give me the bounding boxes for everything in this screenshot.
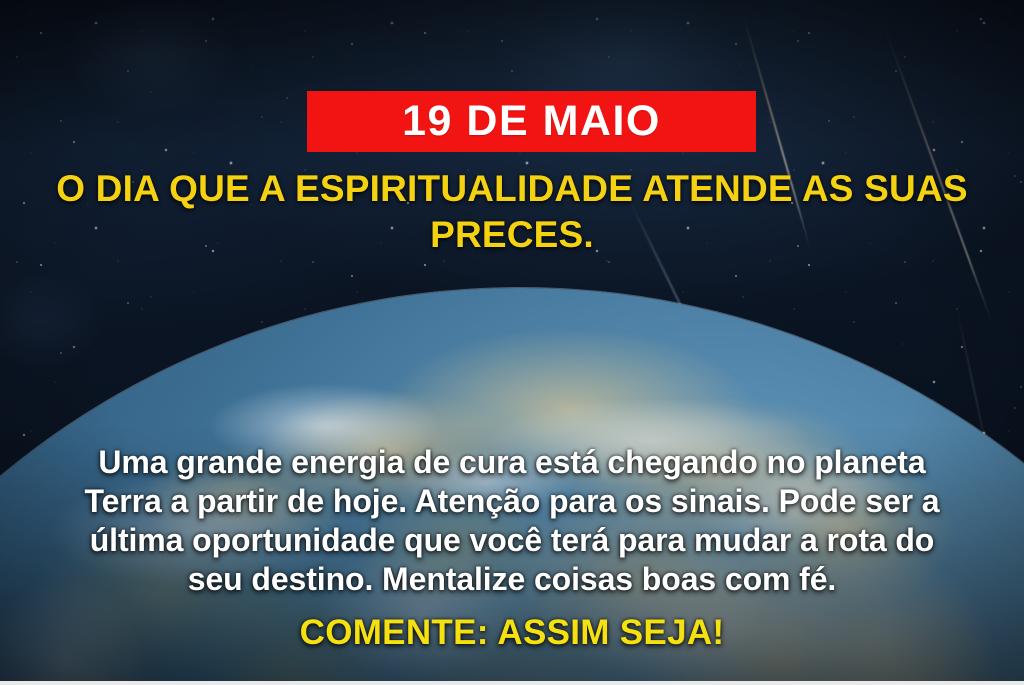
- body-paragraph: Uma grande energia de cura está chegando…: [72, 443, 952, 599]
- page-title: O DIA QUE A ESPIRITUALIDADE ATENDE AS SU…: [0, 166, 1024, 259]
- poster-canvas: 19 DE MAIO O DIA QUE A ESPIRITUALIDADE A…: [0, 0, 1024, 685]
- poster-content: 19 DE MAIO O DIA QUE A ESPIRITUALIDADE A…: [0, 0, 1024, 685]
- call-to-action-label: COMENTE: ASSIM SEJA!: [0, 613, 1024, 653]
- bottom-border: [0, 681, 1024, 685]
- date-banner: 19 DE MAIO: [307, 91, 756, 152]
- date-banner-label: 19 DE MAIO: [402, 100, 661, 143]
